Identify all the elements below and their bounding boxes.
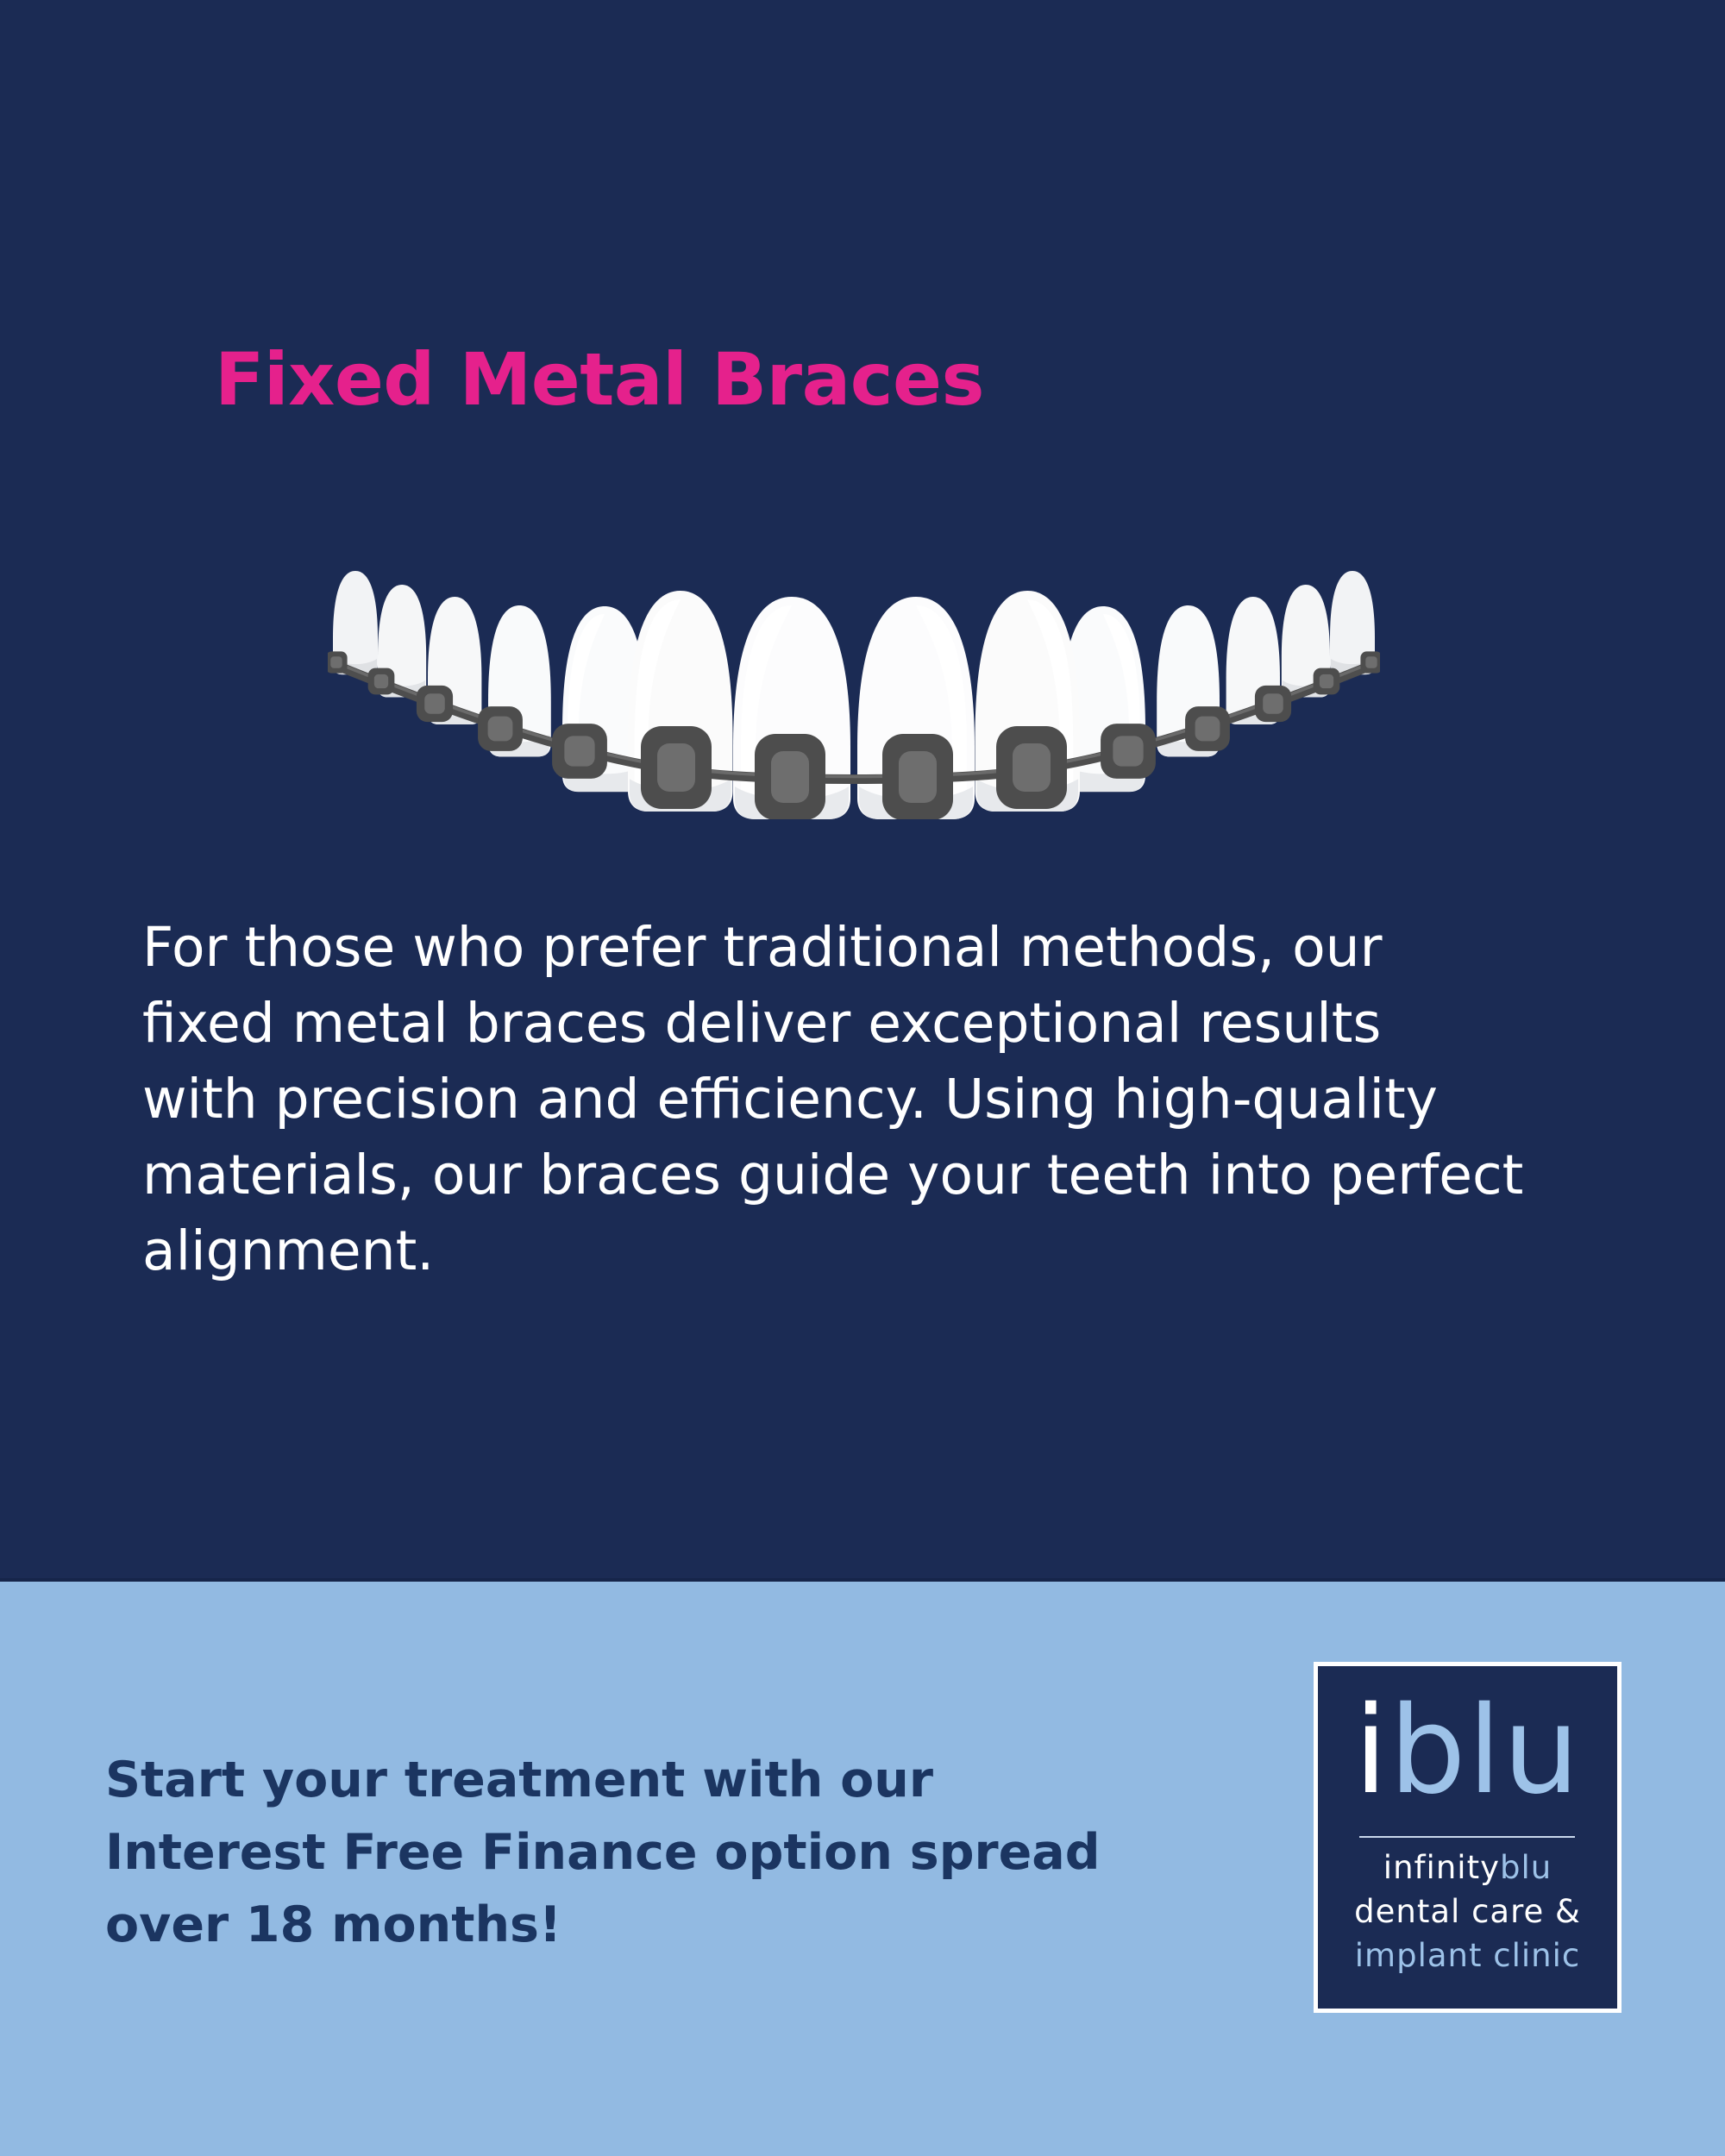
braces-illustration	[328, 552, 1380, 819]
logo-tagline-brand: infinityblu	[1318, 1848, 1617, 1888]
logo-tagline-implant-clinic-text: implant clinic	[1355, 1937, 1580, 1974]
poster-canvas: Fixed Metal Braces	[0, 0, 1725, 2156]
logo-divider-rule	[1359, 1836, 1575, 1838]
logo-tagline-blu: blu	[1500, 1849, 1552, 1886]
infinityblu-logo: iblu infinityblu dental care & implant c…	[1314, 1662, 1621, 2013]
body-line-1: For those who prefer traditional methods…	[142, 910, 1626, 986]
body-copy: For those who prefer traditional methods…	[142, 910, 1626, 1289]
cta-line-2: Interest Free Finance option spread	[105, 1816, 1252, 1889]
logo-wordmark: iblu	[1318, 1687, 1617, 1816]
page-title: Fixed Metal Braces	[0, 343, 1199, 416]
logo-inner: iblu infinityblu dental care & implant c…	[1318, 1666, 1617, 2009]
finance-cta: Start your treatment with our Interest F…	[105, 1744, 1252, 1961]
body-line-3: with precision and efficiency. Using hig…	[142, 1062, 1626, 1138]
logo-wordmark-blu: blu	[1389, 1681, 1582, 1821]
logo-tagline-infinity: infinity	[1383, 1849, 1500, 1886]
logo-tagline-dental-care: dental care &	[1318, 1892, 1617, 1932]
cta-line-3: over 18 months!	[105, 1889, 1252, 1961]
cta-line-1: Start your treatment with our	[105, 1744, 1252, 1816]
logo-tagline-implant-clinic: implant clinic	[1318, 1936, 1617, 1976]
logo-wordmark-i: i	[1354, 1681, 1389, 1821]
body-line-2: fixed metal braces deliver exceptional r…	[142, 986, 1626, 1062]
body-line-5: alignment.	[142, 1213, 1626, 1289]
brackets-group	[328, 651, 1380, 819]
logo-tagline-dental-care-text: dental care &	[1354, 1893, 1581, 1930]
body-line-4: materials, our braces guide your teeth i…	[142, 1138, 1626, 1213]
teeth-braces-svg	[328, 552, 1380, 819]
